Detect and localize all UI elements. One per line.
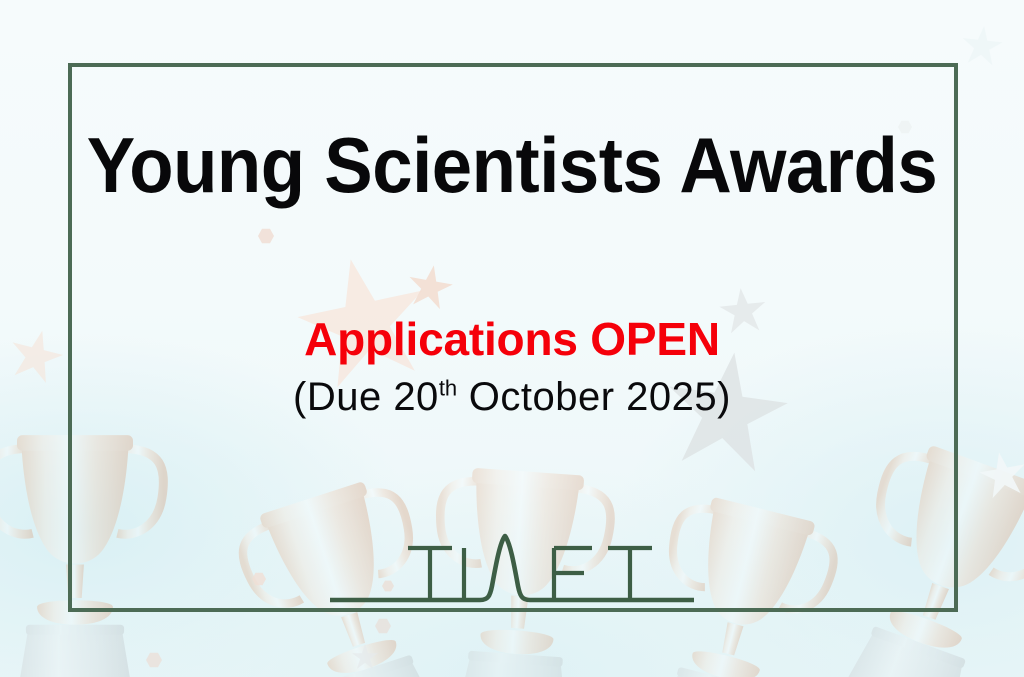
tiaft-logo: [330, 528, 694, 612]
deadline-ordinal: th: [439, 376, 457, 401]
hex-confetti-5-icon: [146, 652, 162, 668]
hex-confetti-4-icon: [375, 618, 391, 634]
deadline-text: (Due 20th October 2025): [0, 375, 1024, 419]
star-white-right-edge-icon: [976, 448, 1024, 501]
poster-canvas: Young Scientists Awards Applications OPE…: [0, 0, 1024, 677]
star-white-topright-icon: [960, 24, 1004, 68]
page-title: Young Scientists Awards: [36, 126, 988, 204]
deadline-suffix: October 2025): [457, 375, 731, 419]
applications-status-text: Applications OPEN: [0, 316, 1024, 362]
star-grey-bottom-mid-icon: [352, 644, 378, 670]
deadline-prefix: (Due 20: [293, 375, 439, 419]
